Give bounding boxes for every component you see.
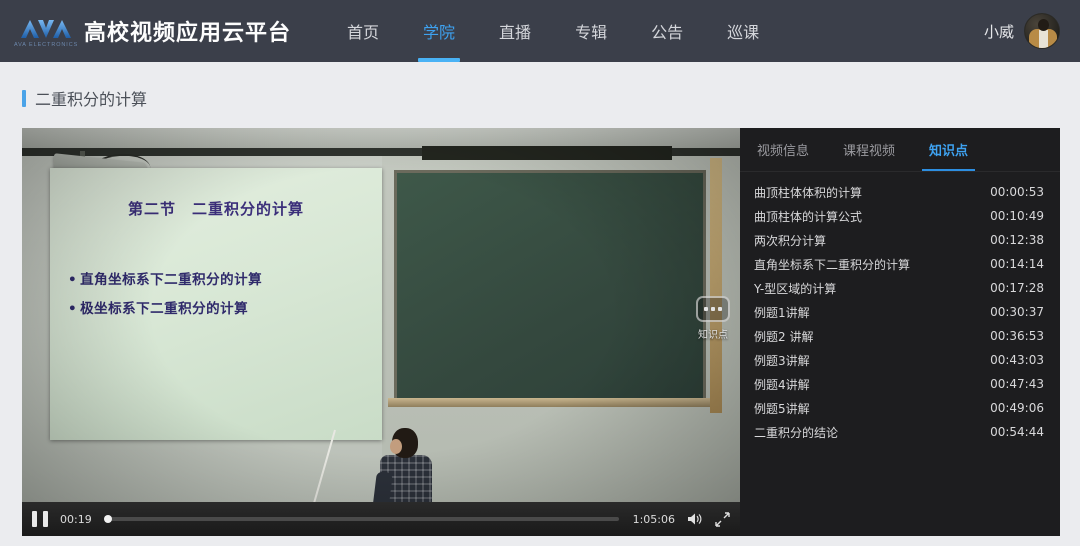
panel-tabs: 视频信息 课程视频 知识点: [740, 128, 1060, 172]
knowledge-point-time: 00:47:43: [990, 377, 1044, 391]
list-item[interactable]: 直角坐标系下二重积分的计算 00:14:14: [740, 252, 1060, 276]
knowledge-point-time: 00:30:37: [990, 305, 1044, 319]
knowledge-point-name: 曲顶柱体体积的计算: [754, 184, 862, 201]
list-item[interactable]: 例题2 讲解 00:36:53: [740, 324, 1060, 348]
knowledge-point-name: 例题4讲解: [754, 376, 810, 393]
ava-logo-icon: AVA ELECTRONICS: [18, 14, 74, 48]
duration: 1:05:06: [633, 513, 675, 526]
pause-bar: [43, 511, 48, 527]
avatar-head: [1038, 19, 1049, 31]
tab-knowledge-points[interactable]: 知识点: [926, 128, 971, 171]
title-accent-bar: [22, 90, 26, 107]
logo-title: 高校视频应用云平台: [84, 15, 291, 47]
controls-right: 1:05:06: [633, 512, 730, 527]
nav-item-notice[interactable]: 公告: [629, 0, 705, 62]
knowledge-point-name: 直角坐标系下二重积分的计算: [754, 256, 910, 273]
dot: [704, 307, 708, 311]
knowledge-point-name: 例题2 讲解: [754, 328, 813, 345]
knowledge-point-time: 00:12:38: [990, 233, 1044, 247]
tab-video-info[interactable]: 视频信息: [754, 128, 812, 171]
knowledge-point-time: 00:10:49: [990, 209, 1044, 223]
volume-icon[interactable]: [687, 512, 703, 526]
logo[interactable]: AVA ELECTRONICS 高校视频应用云平台: [18, 14, 291, 48]
knowledge-point-list: 曲顶柱体体积的计算 00:00:53 曲顶柱体的计算公式 00:10:49 两次…: [740, 172, 1060, 536]
avatar[interactable]: [1024, 13, 1060, 49]
page-title: 二重积分的计算: [35, 86, 147, 110]
list-item[interactable]: 例题1讲解 00:30:37: [740, 300, 1060, 324]
scene-vignette: [22, 128, 740, 536]
current-time: 00:19: [60, 513, 92, 526]
list-item[interactable]: 两次积分计算 00:12:38: [740, 228, 1060, 252]
progress-bar[interactable]: [106, 517, 619, 521]
list-item[interactable]: 例题5讲解 00:49:06: [740, 396, 1060, 420]
tab-course-video[interactable]: 课程视频: [840, 128, 898, 171]
video-player[interactable]: 第二节 二重积分的计算 直角坐标系下二重积分的计算 极坐标系下二重积分的计算: [22, 128, 740, 536]
overlay-button-label: 知识点: [698, 326, 728, 341]
list-item[interactable]: 例题4讲解 00:47:43: [740, 372, 1060, 396]
list-item[interactable]: 例题3讲解 00:43:03: [740, 348, 1060, 372]
nav-item-live[interactable]: 直播: [477, 0, 553, 62]
progress-handle[interactable]: [104, 515, 112, 523]
knowledge-point-time: 00:17:28: [990, 281, 1044, 295]
nav-item-college[interactable]: 学院: [401, 0, 477, 62]
pause-icon[interactable]: [32, 511, 48, 527]
knowledge-point-name: 两次积分计算: [754, 232, 826, 249]
dot: [711, 307, 715, 311]
knowledge-point-time: 00:14:14: [990, 257, 1044, 271]
knowledge-point-time: 00:36:53: [990, 329, 1044, 343]
knowledge-point-time: 00:54:44: [990, 425, 1044, 439]
knowledge-point-name: 例题3讲解: [754, 352, 810, 369]
knowledge-point-time: 00:43:03: [990, 353, 1044, 367]
dot: [718, 307, 722, 311]
main-nav: 首页 学院 直播 专辑 公告 巡课: [325, 0, 781, 62]
knowledge-point-name: 例题5讲解: [754, 400, 810, 417]
pause-bar: [32, 511, 37, 527]
list-item[interactable]: Y-型区域的计算 00:17:28: [740, 276, 1060, 300]
nav-item-home[interactable]: 首页: [325, 0, 401, 62]
nav-item-patrol[interactable]: 巡课: [705, 0, 781, 62]
nav-item-album[interactable]: 专辑: [553, 0, 629, 62]
app-header: AVA ELECTRONICS 高校视频应用云平台 首页 学院 直播 专辑 公告…: [0, 0, 1080, 62]
fullscreen-icon[interactable]: [715, 512, 730, 527]
knowledge-point-overlay-button[interactable]: 知识点: [696, 296, 730, 341]
list-item[interactable]: 曲顶柱体的计算公式 00:10:49: [740, 204, 1060, 228]
video-controls: 00:19 1:05:06: [22, 502, 740, 536]
knowledge-point-name: Y-型区域的计算: [754, 280, 836, 297]
user-name: 小威: [984, 21, 1014, 42]
page-title-row: 二重积分的计算: [22, 86, 1080, 110]
more-dots-icon[interactable]: [696, 296, 730, 322]
knowledge-point-name: 二重积分的结论: [754, 424, 838, 441]
knowledge-point-time: 00:00:53: [990, 185, 1044, 199]
side-panel: 视频信息 课程视频 知识点 曲顶柱体体积的计算 00:00:53 曲顶柱体的计算…: [740, 128, 1060, 536]
controls-left: 00:19: [32, 511, 92, 527]
list-item[interactable]: 曲顶柱体体积的计算 00:00:53: [740, 180, 1060, 204]
main-content: 第二节 二重积分的计算 直角坐标系下二重积分的计算 极坐标系下二重积分的计算: [22, 128, 1060, 536]
user-area[interactable]: 小威: [984, 0, 1060, 62]
knowledge-point-time: 00:49:06: [990, 401, 1044, 415]
list-item[interactable]: 二重积分的结论 00:54:44: [740, 420, 1060, 444]
logo-subtitle: AVA ELECTRONICS: [14, 41, 78, 47]
knowledge-point-name: 曲顶柱体的计算公式: [754, 208, 862, 225]
knowledge-point-name: 例题1讲解: [754, 304, 810, 321]
classroom-scene: 第二节 二重积分的计算 直角坐标系下二重积分的计算 极坐标系下二重积分的计算: [22, 128, 740, 536]
avatar-shirt: [1039, 30, 1048, 49]
